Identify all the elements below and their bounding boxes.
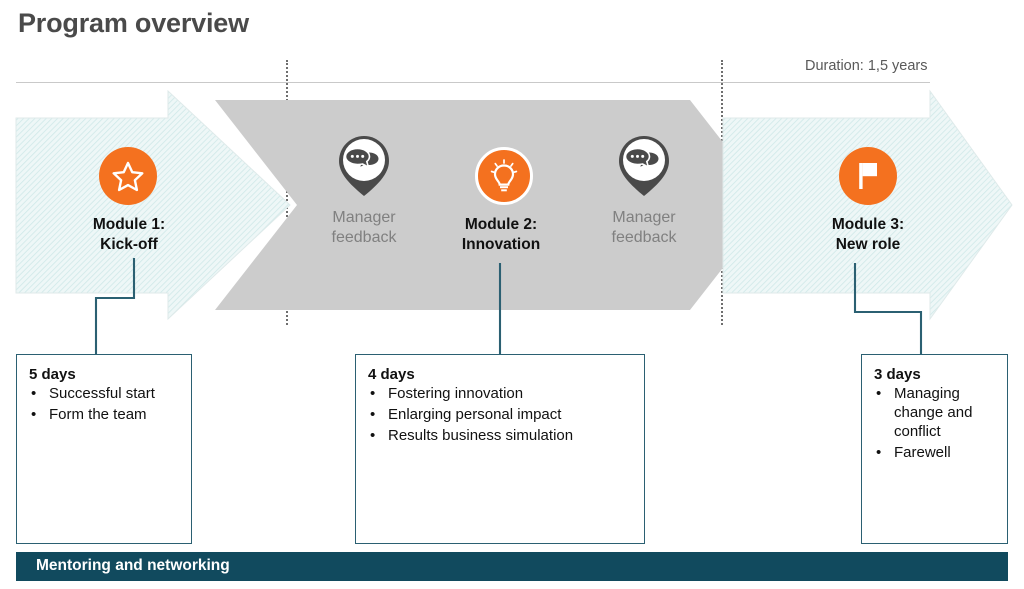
list-item: •Managing change and conflict <box>862 385 1007 442</box>
module-2-icon-wrap <box>475 147 533 205</box>
speech-bubbles-pin-icon <box>615 134 673 198</box>
lightbulb-icon <box>475 147 533 205</box>
detail-title: 4 days <box>368 366 644 383</box>
list-item-text: Results business simulation <box>388 427 573 444</box>
detail-list: •Fostering innovation •Enlarging persona… <box>356 385 644 446</box>
module-3-label: Module 3: New role <box>801 215 935 255</box>
module-2-label: Module 2: Innovation <box>434 215 568 255</box>
module-1-label: Module 1: Kick-off <box>62 215 196 255</box>
mentoring-band-label: Mentoring and networking <box>36 557 230 575</box>
arrow-middle-gray <box>215 100 772 310</box>
bullet-icon: • <box>876 444 881 463</box>
speech-bubbles-pin-icon <box>335 134 393 198</box>
manager-feedback-2-icon-wrap <box>615 134 673 192</box>
list-item: •Farewell <box>862 444 1007 463</box>
list-item-text: Successful start <box>49 385 155 402</box>
bullet-icon: • <box>876 385 881 404</box>
detail-title: 3 days <box>874 366 1007 383</box>
list-item-text: Enlarging personal impact <box>388 406 561 423</box>
flag-icon <box>839 147 897 205</box>
detail-title: 5 days <box>29 366 191 383</box>
detail-list: •Successful start •Form the team <box>17 385 191 425</box>
detail-box-module-2[interactable]: 4 days •Fostering innovation •Enlarging … <box>355 354 645 544</box>
list-item-text: Form the team <box>49 406 147 423</box>
manager-feedback-1-label: Manager feedback <box>297 208 431 249</box>
list-item: •Results business simulation <box>356 427 644 446</box>
list-item: •Successful start <box>17 385 191 404</box>
bullet-icon: • <box>370 385 375 404</box>
program-overview-slide: Program overview Duration: 1,5 years <box>0 0 1024 589</box>
bullet-icon: • <box>370 406 375 425</box>
list-item-text: Managing change and conflict <box>894 385 972 440</box>
module-1-icon-wrap <box>99 147 157 205</box>
mentoring-band: Mentoring and networking <box>16 552 1008 581</box>
bullet-icon: • <box>370 427 375 446</box>
arrow-module-3 <box>723 91 1012 319</box>
bullet-icon: • <box>31 406 36 425</box>
list-item: •Fostering innovation <box>356 385 644 404</box>
list-item: •Enlarging personal impact <box>356 406 644 425</box>
star-icon <box>99 147 157 205</box>
list-item-text: Fostering innovation <box>388 385 523 402</box>
list-item-text: Farewell <box>894 444 951 461</box>
manager-feedback-1-icon-wrap <box>335 134 393 192</box>
bullet-icon: • <box>31 385 36 404</box>
manager-feedback-2-label: Manager feedback <box>577 208 711 249</box>
detail-box-module-1[interactable]: 5 days •Successful start •Form the team <box>16 354 192 544</box>
detail-box-module-3[interactable]: 3 days •Managing change and conflict •Fa… <box>861 354 1008 544</box>
detail-list: •Managing change and conflict •Farewell <box>862 385 1007 463</box>
module-3-icon-wrap <box>839 147 897 205</box>
list-item: •Form the team <box>17 406 191 425</box>
